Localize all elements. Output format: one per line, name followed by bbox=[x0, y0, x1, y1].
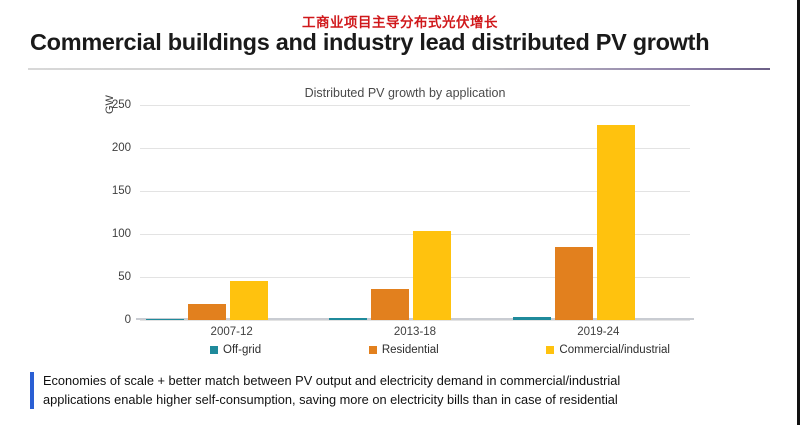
legend-swatch-icon bbox=[369, 346, 377, 354]
y-axis-tick-label: 50 bbox=[118, 271, 131, 283]
legend-swatch-icon bbox=[546, 346, 554, 354]
legend-item-residential[interactable]: Residential bbox=[369, 344, 439, 356]
bar-off-grid-2019-24[interactable] bbox=[513, 317, 551, 320]
legend-swatch-icon bbox=[210, 346, 218, 354]
bar-group: 2007-12 bbox=[140, 105, 323, 320]
y-axis-tick-label: 250 bbox=[112, 99, 131, 111]
bar-commercial-industrial-2019-24[interactable] bbox=[597, 125, 635, 320]
slide-canvas: 工商业项目主导分布式光伏增长 Commercial buildings and … bbox=[0, 0, 800, 425]
note-text: Economies of scale + better match betwee… bbox=[43, 372, 620, 409]
bar-residential-2013-18[interactable] bbox=[371, 289, 409, 320]
x-axis-tick-label: 2013-18 bbox=[323, 326, 506, 338]
title-divider bbox=[28, 68, 770, 70]
footer-note: Economies of scale + better match betwee… bbox=[30, 372, 765, 409]
bar-commercial-industrial-2013-18[interactable] bbox=[413, 231, 451, 320]
legend-item-off-grid[interactable]: Off-grid bbox=[210, 344, 261, 356]
y-axis-tick-label: 100 bbox=[112, 228, 131, 240]
bar-commercial-industrial-2007-12[interactable] bbox=[230, 281, 268, 320]
x-axis-tick-label: 2019-24 bbox=[507, 326, 690, 338]
y-axis-tick-label: 200 bbox=[112, 142, 131, 154]
x-axis-tick-label: 2007-12 bbox=[140, 326, 323, 338]
y-axis-tick-label: 150 bbox=[112, 185, 131, 197]
note-accent-bar bbox=[30, 372, 34, 409]
gridline bbox=[140, 320, 690, 321]
bar-residential-2019-24[interactable] bbox=[555, 247, 593, 320]
bar-off-grid-2013-18[interactable] bbox=[329, 318, 367, 320]
legend-label: Commercial/industrial bbox=[559, 344, 670, 356]
bar-residential-2007-12[interactable] bbox=[188, 304, 226, 320]
page-title: Commercial buildings and industry lead d… bbox=[30, 29, 775, 56]
bar-group: 2013-18 bbox=[323, 105, 506, 320]
chinese-subtitle: 工商业项目主导分布式光伏增长 bbox=[0, 11, 800, 31]
chart-title: Distributed PV growth by application bbox=[170, 86, 640, 100]
bar-off-grid-2007-12[interactable] bbox=[146, 319, 184, 321]
legend-label: Off-grid bbox=[223, 344, 261, 356]
legend-item-commercial-industrial[interactable]: Commercial/industrial bbox=[546, 344, 670, 356]
y-axis-tick-label: 0 bbox=[125, 314, 131, 326]
plot-area: 050100150200250 2007-122013-182019-24 bbox=[140, 105, 690, 320]
legend-label: Residential bbox=[382, 344, 439, 356]
chart-legend: Off-gridResidentialCommercial/industrial bbox=[210, 344, 670, 356]
note-line-1: Economies of scale + better match betwee… bbox=[43, 372, 620, 391]
bar-group: 2019-24 bbox=[507, 105, 690, 320]
note-line-2: applications enable higher self-consumpt… bbox=[43, 391, 620, 410]
chart-container: Distributed PV growth by application GW … bbox=[0, 78, 800, 363]
